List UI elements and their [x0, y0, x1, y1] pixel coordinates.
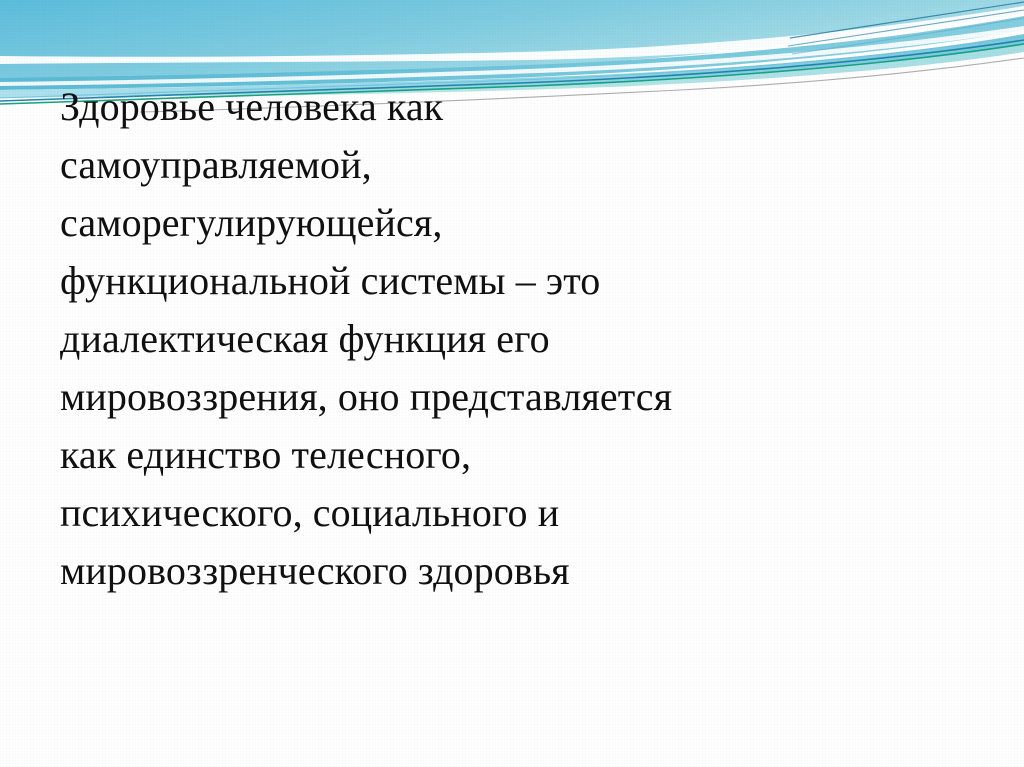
- text-line: как единство телесного,: [60, 426, 940, 484]
- text-line: мировоззрения, оно представляется: [60, 368, 940, 426]
- text-line: функциональной системы – это: [60, 252, 940, 310]
- text-line: психического, социального и: [60, 484, 940, 542]
- slide-canvas: Здоровье человека как самоуправляемой, с…: [0, 0, 1024, 767]
- text-line: самоуправляемой,: [60, 136, 940, 194]
- text-line: мировоззренческого здоровья: [60, 542, 940, 600]
- text-line: саморегулирующейся,: [60, 194, 940, 252]
- slide-body-text: Здоровье человека как самоуправляемой, с…: [60, 78, 940, 600]
- text-line: диалектическая функция его: [60, 310, 940, 368]
- text-line: Здоровье человека как: [60, 78, 940, 136]
